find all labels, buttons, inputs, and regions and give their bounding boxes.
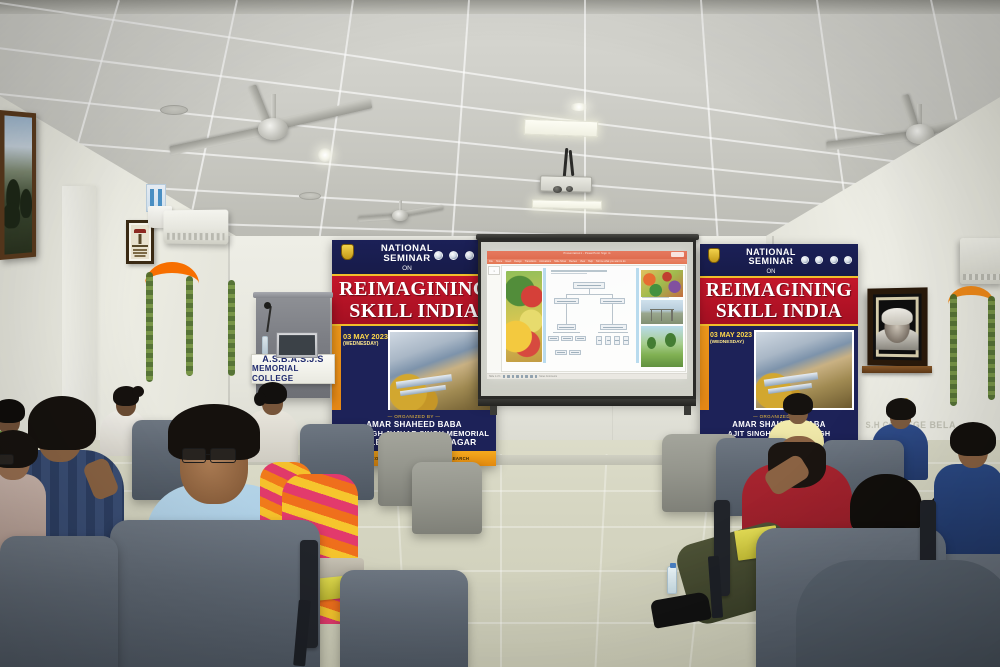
banner-day: (WEDNESDAY) bbox=[343, 342, 388, 348]
partner-logo-icon bbox=[465, 251, 474, 260]
college-crest-icon bbox=[341, 244, 354, 260]
projection-screen-weight-bar bbox=[478, 399, 696, 406]
partner-logo-icon bbox=[801, 256, 809, 264]
diagram-node-l1a bbox=[554, 298, 579, 304]
diagram-leaf bbox=[569, 350, 581, 355]
ppt-menu-home[interactable]: Home bbox=[496, 260, 502, 263]
slide-image-landscape bbox=[641, 326, 683, 367]
ppt-status-right: Notes Comments bbox=[539, 376, 557, 378]
diagram-node-root bbox=[573, 282, 605, 289]
partner-logo-icon bbox=[830, 256, 838, 264]
banner-photo bbox=[388, 330, 492, 412]
banner-day: (WEDNESDAY) bbox=[710, 340, 752, 346]
water-bottle bbox=[667, 566, 677, 594]
slide-image-produce bbox=[506, 271, 542, 362]
portrait-shelf bbox=[862, 366, 932, 373]
ppt-menu-slideshow[interactable]: Slide Show bbox=[554, 260, 566, 263]
auditorium-photo: S.H COLLEGE BELA NATIONAL SEMINAR ON REI… bbox=[0, 0, 1000, 667]
ppt-menu-file[interactable]: File bbox=[489, 260, 493, 263]
college-crest-icon bbox=[708, 248, 720, 263]
slide-diagram-column bbox=[546, 266, 636, 371]
banner-organized-by: — ORGANIZED BY — bbox=[388, 414, 441, 419]
banner-date: 03 MAY 2023 bbox=[710, 332, 752, 340]
slide-thumbnail[interactable]: 1 bbox=[488, 266, 500, 275]
ppt-window-controls[interactable] bbox=[671, 252, 684, 257]
panel-light bbox=[524, 119, 599, 138]
framed-painting bbox=[0, 110, 36, 260]
ceiling-vent bbox=[160, 105, 188, 115]
ppt-status-left: Slide 1 of 1 bbox=[489, 376, 501, 378]
ppt-workspace: 1 bbox=[487, 264, 687, 373]
slide-caption-bar bbox=[642, 297, 669, 298]
podium-nameplate: A.S.B.A.S.J.S MEMORIAL COLLEGE bbox=[251, 354, 335, 384]
banner-title-line1: REIMAGINING bbox=[339, 279, 489, 299]
banner-title-line2: SKILL INDIA bbox=[349, 301, 478, 321]
partner-logo-icon bbox=[449, 251, 458, 260]
microphone-icon bbox=[264, 302, 271, 309]
slide-subheading-bar bbox=[551, 273, 587, 274]
ceiling-vent bbox=[299, 192, 321, 200]
diagram-leaf bbox=[561, 336, 573, 341]
founder-portrait bbox=[867, 287, 927, 366]
diagram-node-l2b bbox=[600, 324, 627, 330]
slide-accent-bar bbox=[636, 268, 639, 363]
chair-foreground[interactable] bbox=[110, 520, 320, 667]
ppt-menu-design[interactable]: Design bbox=[514, 260, 521, 263]
diagram-leaf bbox=[596, 336, 602, 345]
partner-logo-icon bbox=[815, 256, 823, 264]
chair-foreground[interactable] bbox=[0, 536, 118, 667]
diagram-leaf bbox=[623, 336, 629, 345]
slide-image-farm bbox=[641, 300, 683, 324]
diagram-leaf bbox=[605, 336, 611, 345]
partner-logo-icon bbox=[434, 251, 443, 260]
chair-foreground[interactable] bbox=[340, 570, 468, 667]
slide-canvas[interactable] bbox=[501, 265, 686, 372]
ppt-menu-transitions[interactable]: Transitions bbox=[525, 260, 537, 263]
eyeglasses bbox=[182, 448, 206, 463]
powerpoint-window[interactable]: Presentation1 - PowerPoint Sign in File … bbox=[487, 251, 687, 379]
banner-on: ON bbox=[359, 266, 455, 273]
diagram-node-l2a bbox=[557, 324, 577, 330]
ppt-menu-help[interactable]: Help bbox=[588, 260, 593, 263]
ppt-title-text: Presentation1 - PowerPoint Sign in bbox=[563, 252, 610, 255]
laptop[interactable] bbox=[276, 332, 318, 358]
ppt-menu-review[interactable]: Review bbox=[569, 260, 577, 263]
slide-right-column bbox=[636, 266, 685, 371]
diagram-leaf bbox=[614, 336, 620, 345]
diagram-leaf bbox=[548, 336, 560, 341]
split-ac-indoor-unit bbox=[960, 238, 1000, 284]
diagram-leaf bbox=[575, 336, 587, 341]
ppt-menu-insert[interactable]: Insert bbox=[505, 260, 511, 263]
chair[interactable] bbox=[412, 462, 482, 534]
banner-title-line1: REIMAGINING bbox=[706, 281, 852, 301]
ceiling-edge bbox=[0, 0, 1000, 14]
water-bottle bbox=[262, 336, 268, 354]
podium-line-2: MEMORIAL COLLEGE bbox=[252, 364, 334, 383]
ppt-menu-view[interactable]: View bbox=[580, 260, 585, 263]
partner-logo-icon bbox=[844, 256, 852, 264]
downlight bbox=[570, 103, 588, 111]
banner-title-line2: SKILL INDIA bbox=[716, 302, 842, 322]
ppt-title-bar: Presentation1 - PowerPoint Sign in bbox=[487, 251, 687, 259]
diagram-leaf bbox=[555, 350, 567, 355]
slide-left-column bbox=[502, 266, 546, 371]
screen-bracket bbox=[684, 406, 691, 415]
slide-image-vegetables bbox=[641, 270, 683, 297]
screen-bracket bbox=[490, 406, 497, 415]
slide-heading-bar bbox=[551, 270, 607, 272]
ppt-status-bar: Slide 1 of 1 Notes Comments bbox=[487, 373, 687, 379]
projection-screen: Presentation1 - PowerPoint Sign in File … bbox=[478, 239, 696, 399]
split-ac-indoor-unit bbox=[163, 210, 228, 245]
banner-on: ON bbox=[724, 269, 818, 275]
panel-light bbox=[532, 199, 602, 209]
ppt-menu-tellme[interactable]: Tell me what you want to do bbox=[596, 260, 626, 263]
eyeglasses bbox=[210, 448, 236, 463]
ppt-menu-animations[interactable]: Animations bbox=[539, 260, 551, 263]
